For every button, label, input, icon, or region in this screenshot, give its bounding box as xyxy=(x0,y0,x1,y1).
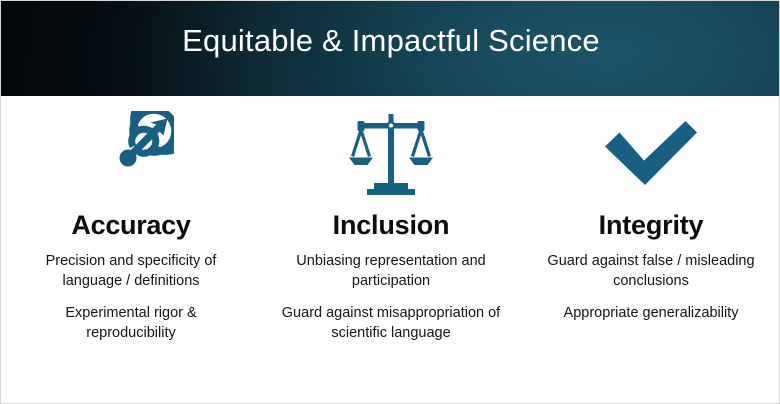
column-title: Accuracy xyxy=(9,211,253,241)
column-line-1: Guard against false / misleading conclus… xyxy=(537,251,765,291)
column-accuracy: Accuracy Precision and specificity of la… xyxy=(1,96,261,404)
checkmark-icon xyxy=(529,96,773,211)
value-columns: Accuracy Precision and specificity of la… xyxy=(1,96,780,404)
column-inclusion: Inclusion Unbiasing representation and p… xyxy=(261,96,521,404)
target-arrow-icon xyxy=(9,96,253,211)
column-line-2: Experimental rigor & reproducibility xyxy=(29,303,234,343)
column-line-2: Appropriate generalizability xyxy=(537,303,765,323)
column-line-1: Unbiasing representation and participati… xyxy=(272,251,510,291)
column-line-2: Guard against misappropriation of scient… xyxy=(272,303,510,343)
balance-scales-icon xyxy=(269,96,513,211)
column-line-1: Precision and specificity of language / … xyxy=(29,251,234,291)
slide-canvas: Equitable & Impactful Science xyxy=(0,0,780,404)
page-title: Equitable & Impactful Science xyxy=(1,23,780,59)
header-banner: Equitable & Impactful Science xyxy=(1,1,780,96)
column-title: Integrity xyxy=(529,211,773,241)
column-title: Inclusion xyxy=(269,211,513,241)
column-integrity: Integrity Guard against false / misleadi… xyxy=(521,96,780,404)
